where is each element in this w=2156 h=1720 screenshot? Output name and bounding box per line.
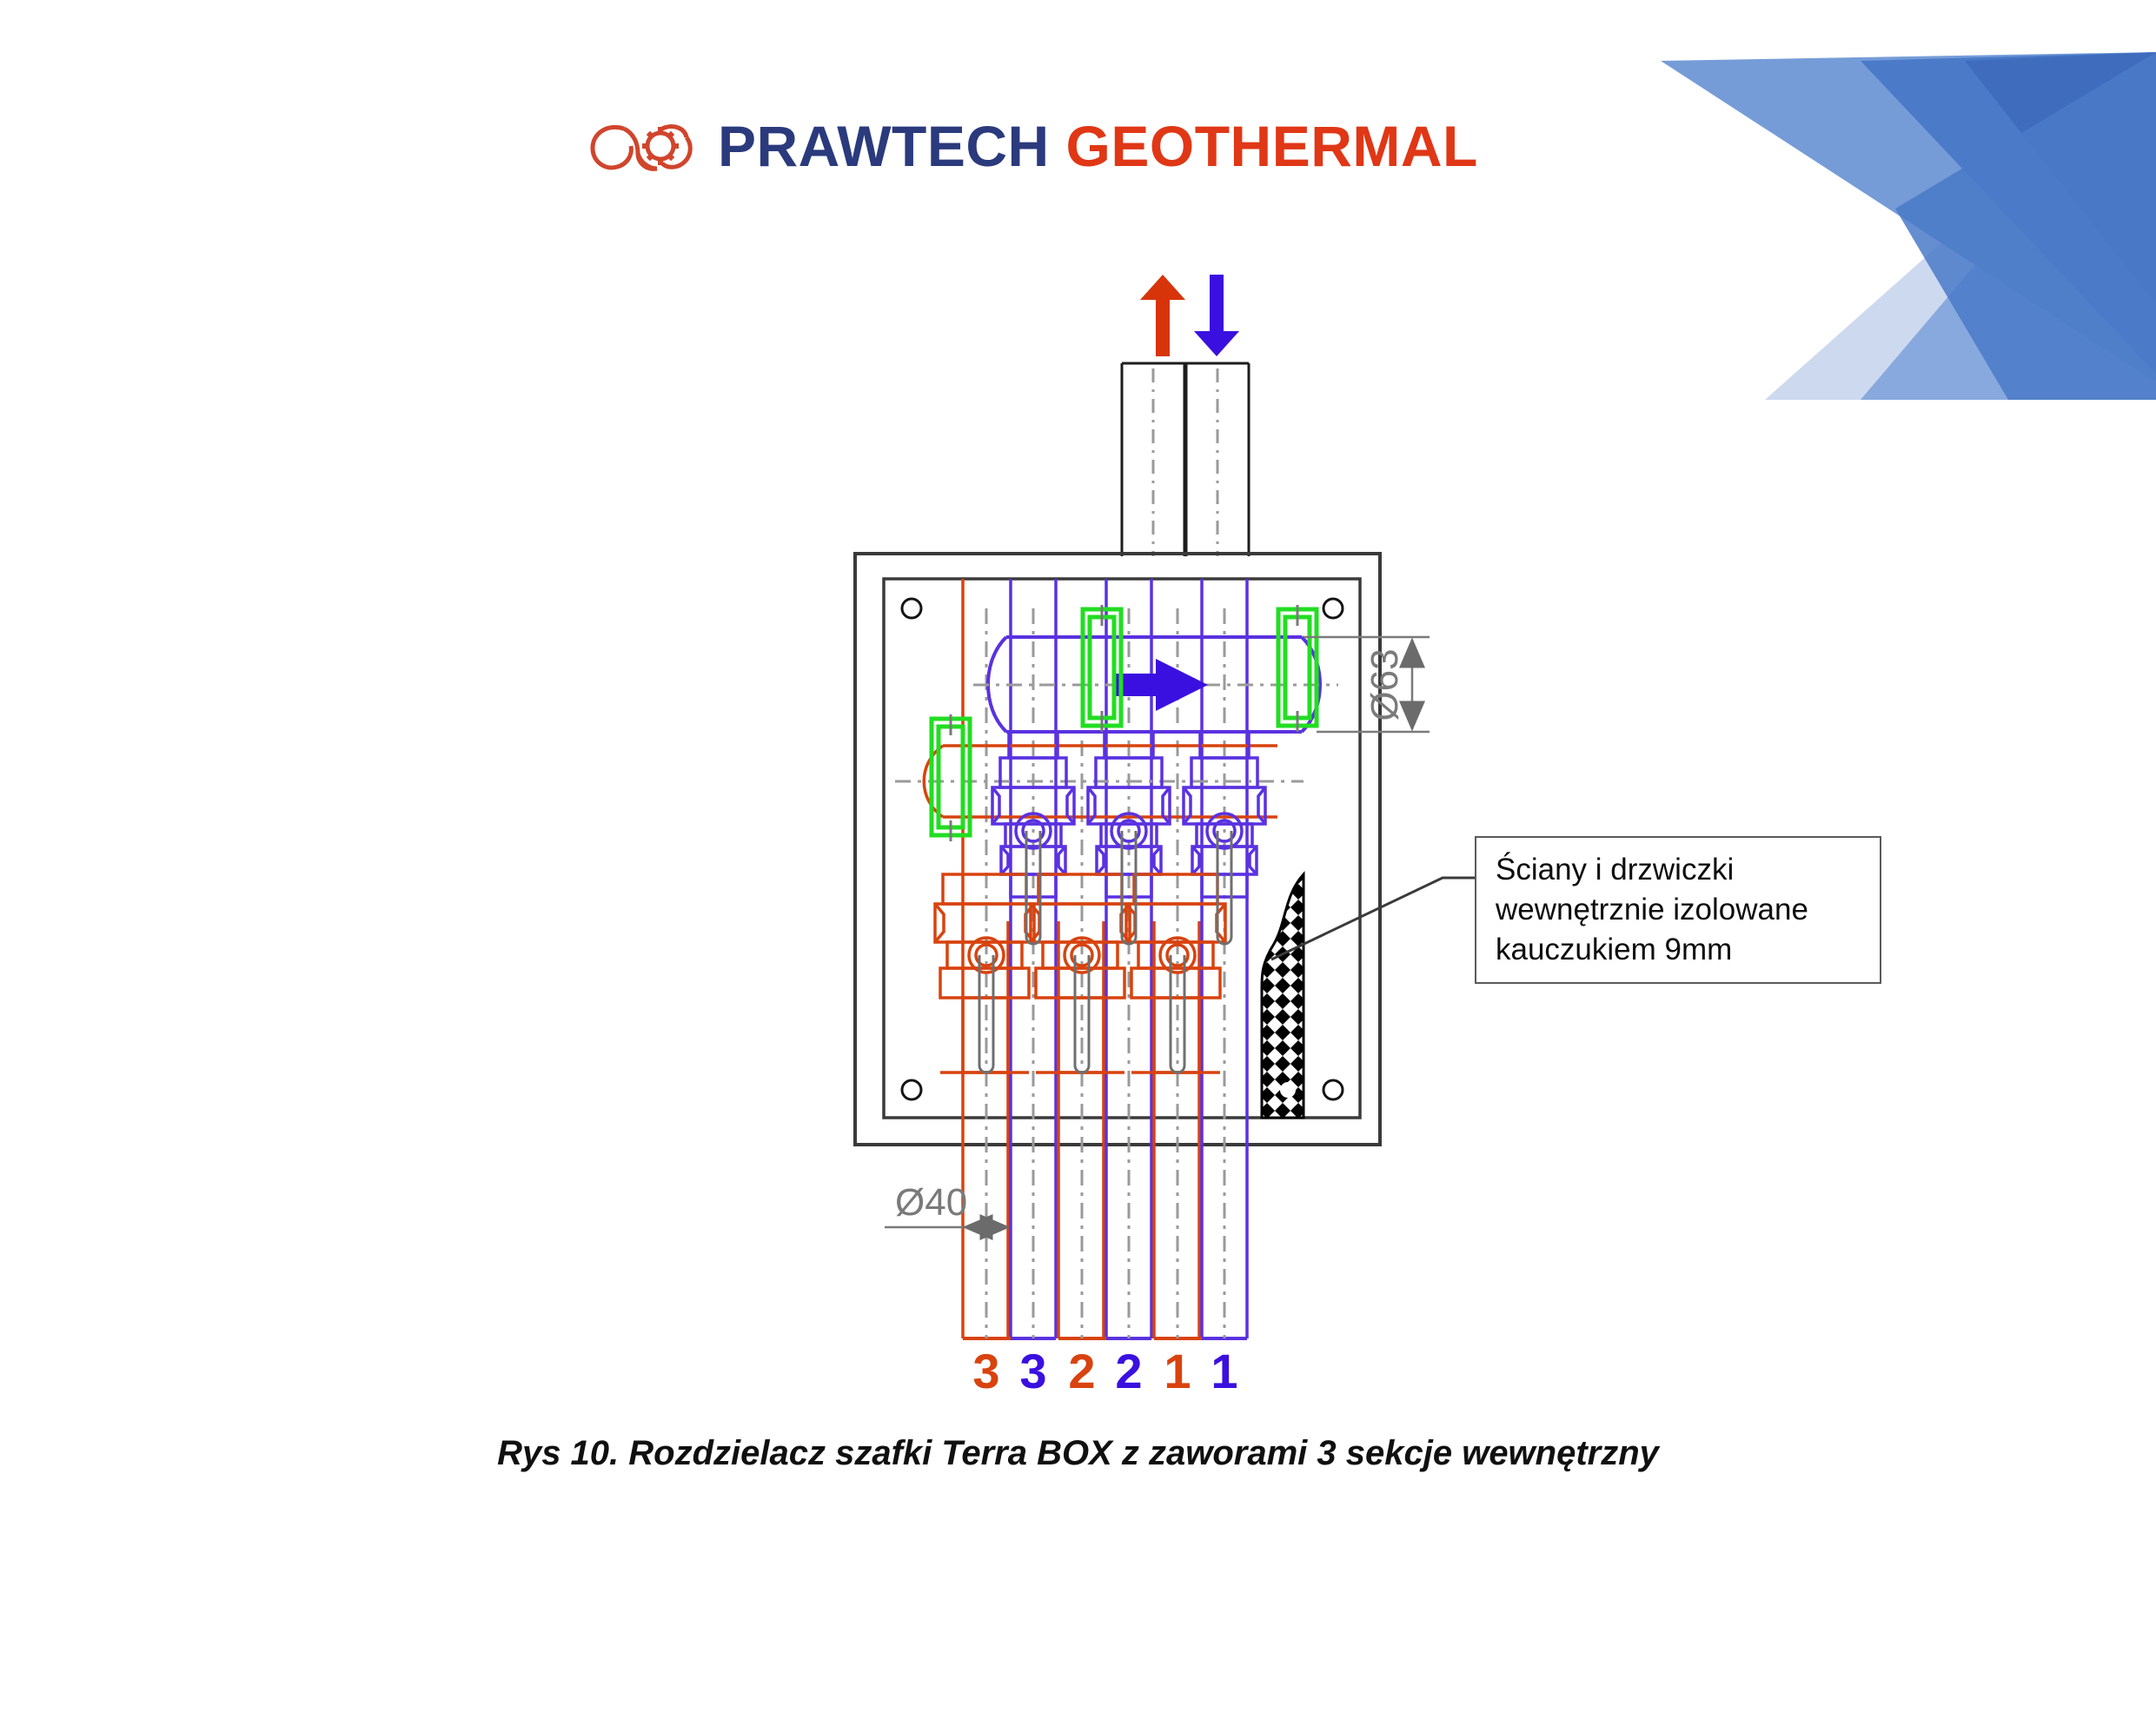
bracket-upper-left [1083,609,1121,726]
port-label-2: 2 [1068,1344,1095,1398]
rubber-insulation-hatch [1262,874,1304,1118]
bracket-upper-right [1278,609,1317,726]
callout-line-1: Ściany i drzwiczki [1496,850,1864,890]
slide-page: PRAWTECH GEOTHERMAL [0,0,2156,1720]
mounting-hole-bottom-right [1323,1080,1343,1099]
insulation-hatch-dot [1280,1082,1296,1098]
dimension-d63-label: Ø63 [1363,648,1406,721]
mounting-hole-bottom-left [902,1080,921,1099]
mounting-hole-top-right [1323,599,1343,618]
port-number-labels: 3 3 2 2 1 1 [972,1344,1237,1398]
callout-line-3: kauczukiem 9mm [1496,930,1864,970]
supply-up-arrow-icon [1140,275,1185,356]
figure-caption: Rys 10. Rozdzielacz szafki Terra BOX z z… [0,1434,2156,1473]
port-label-0: 3 [972,1344,999,1398]
port-label-1: 3 [1019,1344,1046,1398]
dimension-d40-label: Ø40 [895,1181,967,1224]
port-label-5: 1 [1211,1344,1237,1398]
top-pipe-stubs [1122,363,1249,556]
insulation-callout-box: Ściany i drzwiczki wewnętrznie izolowane… [1475,836,1881,984]
port-label-3: 2 [1115,1344,1142,1398]
vertical-pipe-runs [963,579,1247,1338]
return-down-arrow-icon [1194,275,1239,356]
port-label-4: 1 [1164,1344,1191,1398]
flow-direction-arrows [1140,275,1239,356]
callout-line-2: wewnętrznie izolowane [1496,890,1864,930]
mounting-hole-top-left [902,599,921,618]
